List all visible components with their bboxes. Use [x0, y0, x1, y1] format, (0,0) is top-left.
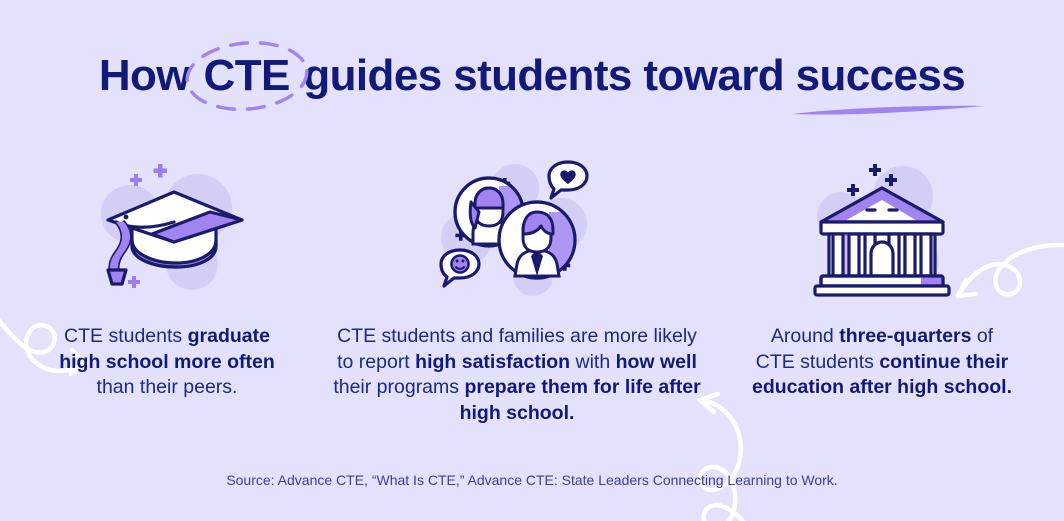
text-segment-bold: high satisfaction	[415, 351, 570, 373]
text-segment-bold: prepare them for life after high school.	[460, 376, 701, 424]
text-segment-bold: how well	[616, 351, 697, 373]
source-citation: Source: Advance CTE, “What Is CTE,” Adva…	[0, 470, 1064, 490]
page-title: How CTE guides students toward success	[99, 48, 965, 104]
title-container: How CTE guides students toward success	[0, 48, 1064, 104]
people-chat-art	[437, 160, 597, 300]
title-part-1: How	[99, 51, 190, 100]
infographic-root: How CTE guides students toward success	[0, 0, 1064, 521]
title-underlined-word-wrap: success	[796, 48, 966, 104]
people-chat-icon	[437, 160, 597, 300]
title-underlined-word: success	[796, 51, 966, 100]
text-segment: Around	[771, 325, 839, 347]
university-building-art	[807, 160, 957, 300]
text-segment: CTE students	[64, 325, 188, 347]
columns-container: CTE students graduate high school more o…	[0, 160, 1064, 426]
column-continue-education: Around three-quarters of CTE students co…	[717, 160, 1047, 401]
text-segment: with	[570, 351, 616, 373]
brush-underline-icon	[790, 103, 986, 117]
university-building-icon	[807, 160, 957, 300]
column-graduation-text: CTE students graduate high school more o…	[52, 324, 282, 401]
title-part-2: guides students toward	[303, 51, 784, 100]
text-segment-bold: three-quarters	[839, 325, 971, 347]
graduation-cap-icon	[82, 160, 252, 300]
title-circled-word: CTE	[204, 51, 290, 100]
text-segment: their programs	[333, 376, 464, 398]
title-circled-word-wrap: CTE	[202, 48, 292, 104]
column-satisfaction: CTE students and families are more likel…	[317, 160, 717, 426]
column-continue-education-text: Around three-quarters of CTE students co…	[750, 324, 1015, 401]
column-satisfaction-text: CTE students and families are more likel…	[327, 324, 707, 426]
graduation-cap-art	[82, 160, 252, 300]
text-segment: than their peers.	[97, 376, 238, 398]
column-graduation: CTE students graduate high school more o…	[17, 160, 317, 401]
